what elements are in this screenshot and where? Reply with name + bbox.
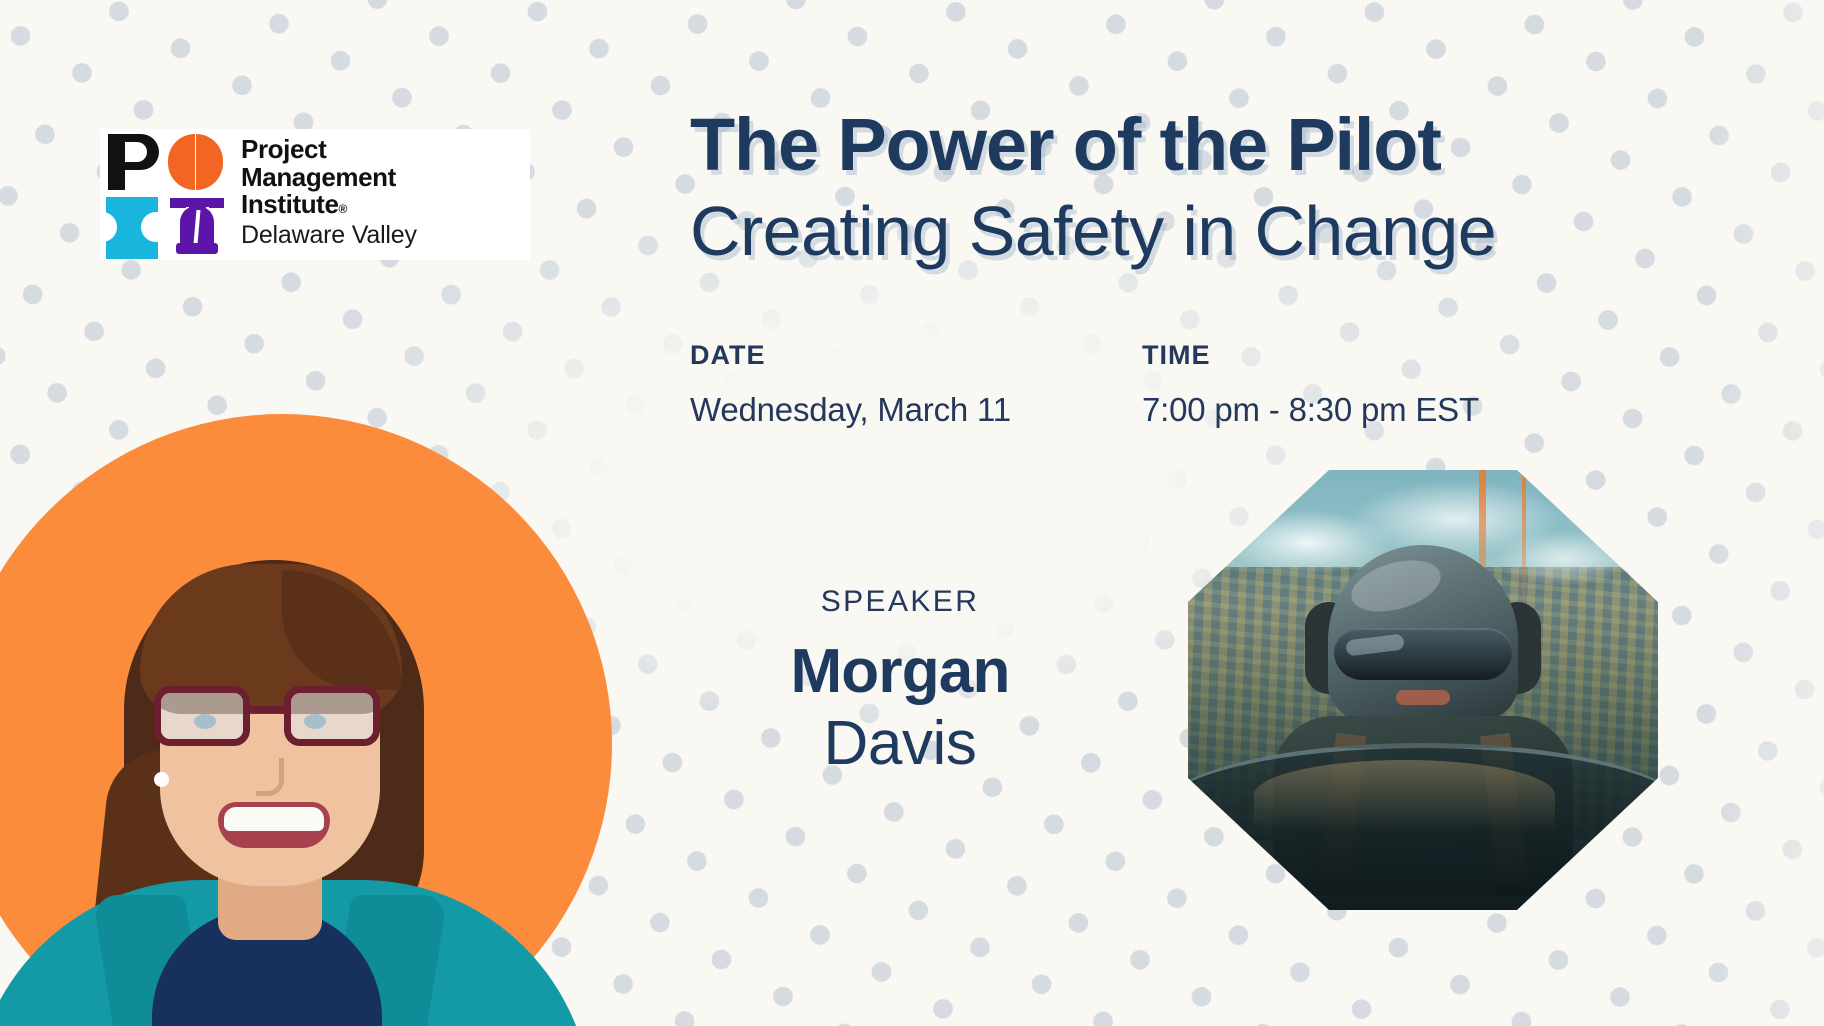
time-column: TIME 7:00 pm - 8:30 pm EST — [1142, 340, 1612, 429]
logo-line-project: Project — [241, 136, 530, 164]
logo-chapter-name: Delaware Valley — [241, 221, 530, 251]
headline-block: The Power of the Pilot Creating Safety i… — [690, 108, 1750, 266]
liberty-bell-icon — [166, 195, 232, 261]
eyeglasses-icon — [150, 686, 390, 748]
registered-trademark-icon: ® — [339, 202, 347, 216]
pmi-p-glyph-icon — [100, 129, 166, 195]
event-flyer: Project Management Institute® Delaware V… — [0, 0, 1824, 1026]
feature-image-octagon — [1188, 470, 1658, 910]
date-column: DATE Wednesday, March 11 — [690, 340, 1142, 429]
speaker-kicker-label: SPEAKER — [700, 585, 1100, 619]
logo-wordmark: Project Management Institute® Delaware V… — [231, 129, 530, 260]
speaker-portrait — [0, 414, 652, 1026]
speaker-first-name: Morgan — [700, 641, 1100, 703]
pmi-logo-mark — [100, 129, 231, 260]
speaker-headshot-photo — [0, 500, 582, 1026]
sunglasses-icon — [1334, 628, 1512, 680]
pilot-cockpit-photo — [1188, 470, 1658, 910]
speaker-last-name: Davis — [700, 711, 1100, 776]
pmi-butterfly-icon — [166, 129, 232, 195]
date-label: DATE — [690, 340, 1142, 371]
pmi-hourglass-icon — [100, 195, 166, 261]
pmi-delaware-valley-logo[interactable]: Project Management Institute® Delaware V… — [100, 129, 530, 260]
event-meta-row: DATE Wednesday, March 11 TIME 7:00 pm - … — [690, 340, 1630, 429]
page-title: The Power of the Pilot — [690, 108, 1750, 182]
time-value: 7:00 pm - 8:30 pm EST — [1142, 391, 1612, 429]
time-label: TIME — [1142, 340, 1612, 371]
page-subtitle: Creating Safety in Change — [690, 196, 1750, 266]
date-value: Wednesday, March 11 — [690, 391, 1142, 429]
logo-line-institute: Institute® — [241, 191, 530, 219]
speaker-block: SPEAKER Morgan Davis — [700, 585, 1100, 776]
logo-line-management: Management — [241, 164, 530, 192]
